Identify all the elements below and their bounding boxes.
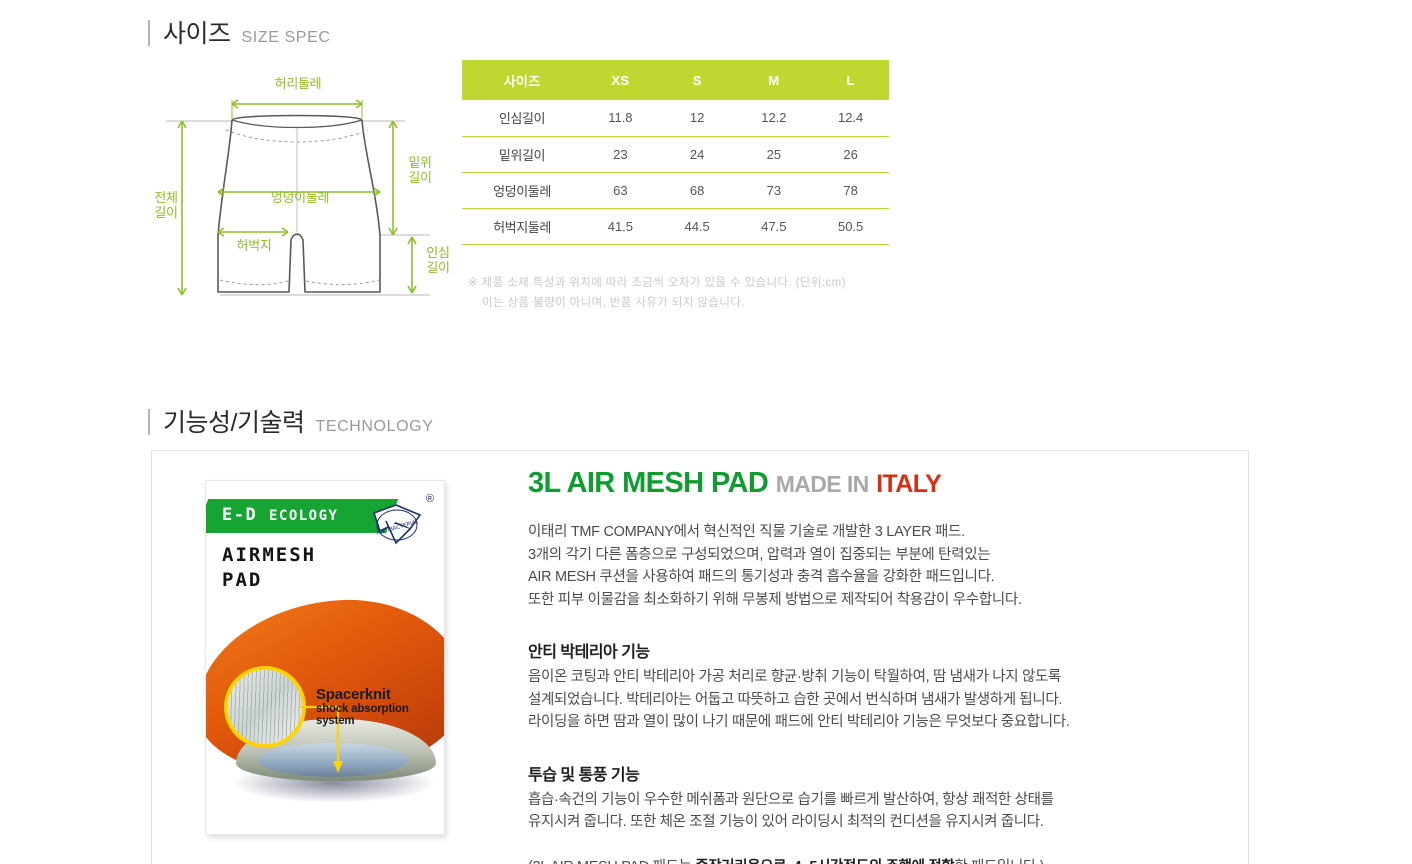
table-cell: 26: [812, 136, 889, 172]
callout-title: Spacerknit: [316, 686, 444, 703]
spacerknit-zoom-circle: [224, 666, 306, 748]
callout-subtitle: shock absorption system: [316, 703, 444, 727]
row-label: 밑위길이: [462, 136, 582, 172]
row-label: 엉덩이둘레: [462, 172, 582, 208]
feature-2-body: 흡습·속건의 기능이 우수한 메쉬폼과 원단으로 습기를 빠르게 발산하여, 항…: [528, 789, 1188, 834]
diagram-label-thigh: 허벅지: [213, 238, 295, 253]
size-spec-table: 사이즈 XS S M L 인심길이 11.8 12 12.2 12.4 밑위길이: [462, 60, 889, 245]
row-label: 허벅지둘레: [462, 208, 582, 244]
pad-usage-note: (3L AIR MESH PAD 패드는 중장거리용으로, 4~5시간정도의 주…: [528, 856, 1188, 864]
product-title-line-2: PAD: [222, 568, 316, 593]
usage-note-suffix: 한 패드입니다.): [954, 859, 1044, 864]
table-cell: 24: [659, 136, 736, 172]
technology-section-heading: 기능성/기술력 TECHNOLOGY: [148, 403, 433, 439]
garment-measurement-diagram: 허리둘레 전체 길이 밑위 길이 엉덩이둘레 허벅지 인심 길이: [140, 80, 460, 305]
technology-copy-column: 3L AIR MESH PAD MADE IN ITALY 이태리 TMF CO…: [528, 466, 1188, 864]
table-cell: 12.4: [812, 100, 889, 136]
registered-trademark-icon: ®: [426, 493, 434, 505]
table-cell: 73: [736, 172, 813, 208]
feature-2-title: 투습 및 통풍 기능: [528, 761, 1188, 785]
table-header-cell: L: [812, 60, 889, 100]
pad-title-made-in: MADE IN: [776, 471, 869, 497]
table-cell: 63: [582, 172, 659, 208]
size-spec-table-wrapper: 사이즈 XS S M L 인심길이 11.8 12 12.2 12.4 밑위길이: [462, 60, 889, 245]
feature-1-title: 안티 박테리아 기능: [528, 638, 1188, 662]
table-header-cell: S: [659, 60, 736, 100]
pad-title: 3L AIR MESH PAD MADE IN ITALY: [528, 466, 1188, 501]
size-heading-english: SIZE SPEC: [242, 29, 331, 47]
pad-title-main: 3L AIR MESH PAD: [528, 467, 768, 499]
table-row: 인심길이 11.8 12 12.2 12.4: [462, 100, 889, 136]
size-heading-korean: 사이즈: [163, 14, 231, 50]
table-cell: 47.5: [736, 208, 813, 244]
technology-heading-english: TECHNOLOGY: [315, 418, 433, 436]
brand-label: E-D ECOLOGY: [222, 505, 338, 525]
table-header-cell: XS: [582, 60, 659, 100]
table-cell: 68: [659, 172, 736, 208]
table-row: 허벅지둘레 41.5 44.5 47.5 50.5: [462, 208, 889, 244]
diagram-label-waist: 허리둘레: [253, 76, 343, 91]
table-cell: 23: [582, 136, 659, 172]
pad-title-country: ITALY: [876, 470, 941, 498]
table-cell: 25: [736, 136, 813, 172]
size-note-line-2: 이는 상품 불량이 아니며, 반품 사유가 되지 않습니다.: [468, 293, 846, 313]
diagram-label-hip: 엉덩이둘레: [240, 190, 360, 205]
table-header-row: 사이즈 XS S M L: [462, 60, 889, 100]
product-title-line-1: AIRMESH: [222, 543, 316, 568]
size-note-line-1: ※ 제품 소재 특성과 위치에 따라 조금씩 오차가 있을 수 있습니다. (단…: [468, 277, 846, 289]
diagram-label-inseam: 인심 길이: [418, 245, 458, 275]
table-cell: 12.2: [736, 100, 813, 136]
table-cell: 12: [659, 100, 736, 136]
usage-note-prefix: (3L AIR MESH PAD 패드는: [528, 859, 695, 864]
pad-intro-paragraph: 이태리 TMF COMPANY에서 혁신적인 직물 기술로 개발한 3 LAYE…: [528, 521, 1188, 611]
table-row: 엉덩이둘레 63 68 73 78: [462, 172, 889, 208]
table-cell: 50.5: [812, 208, 889, 244]
antibacterial-badge-icon: ANTIBACTERIAL: [366, 499, 428, 551]
product-image-title: AIRMESH PAD: [222, 543, 316, 593]
brand-sub-name: ECOLOGY: [269, 508, 339, 524]
product-detail-page: 사이즈 SIZE SPEC: [0, 0, 1412, 864]
spacerknit-callout: Spacerknit shock absorption system: [316, 686, 444, 727]
table-header-cell: 사이즈: [462, 60, 582, 100]
usage-note-emphasis: 중장거리용으로, 4~5시간정도의 주행에 적합: [695, 859, 954, 864]
table-row: 밑위길이 23 24 25 26: [462, 136, 889, 172]
technology-heading-korean: 기능성/기술력: [163, 403, 304, 439]
size-section-heading: 사이즈 SIZE SPEC: [148, 14, 331, 50]
feature-1-body: 음이온 코팅과 안티 박테리아 가공 처리로 향균·방취 기능이 탁월하여, 땀…: [528, 666, 1188, 734]
table-header-cell: M: [736, 60, 813, 100]
diagram-label-total-length: 전체 길이: [144, 190, 188, 220]
heading-accent-bar: [148, 20, 150, 46]
knit-fiber-texture: [228, 670, 302, 744]
table-cell: 44.5: [659, 208, 736, 244]
table-cell: 78: [812, 172, 889, 208]
brand-name: E-D: [222, 505, 257, 525]
diagram-label-rise-length: 밑위 길이: [398, 155, 442, 185]
airmesh-pad-product-image: E-D ECOLOGY AIRMESH PAD ANTIBACTERIAL ® …: [205, 480, 445, 835]
row-label: 인심길이: [462, 100, 582, 136]
heading-accent-bar: [148, 409, 150, 435]
size-table-note: ※ 제품 소재 특성과 위치에 따라 조금씩 오차가 있을 수 있습니다. (단…: [468, 253, 846, 333]
table-cell: 11.8: [582, 100, 659, 136]
table-cell: 41.5: [582, 208, 659, 244]
